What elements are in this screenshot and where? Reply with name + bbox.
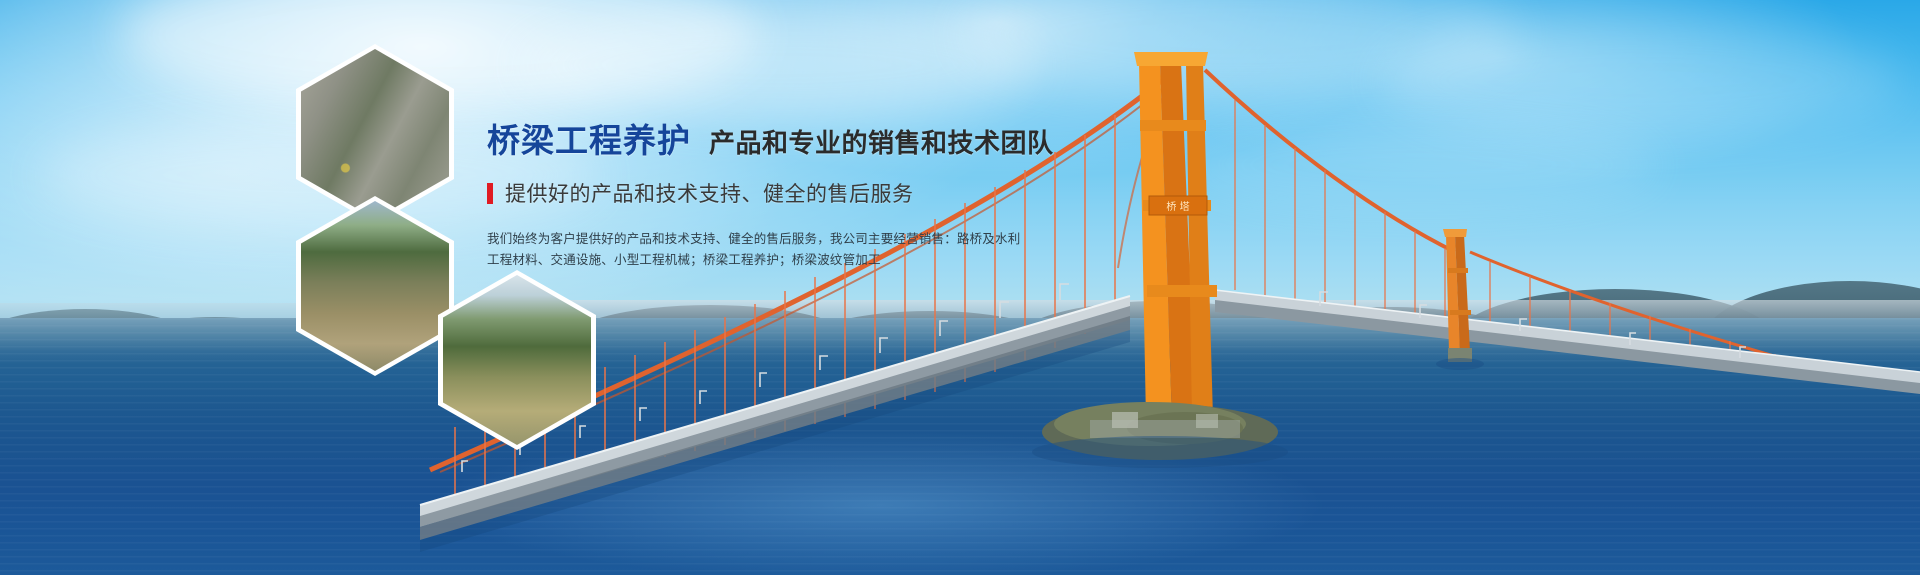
- cloud-wisp: [1180, 120, 1660, 210]
- cloud-wisp: [1380, 20, 1900, 140]
- cloud-wisp: [520, 10, 1040, 120]
- sea-horizon-shimmer: [0, 318, 1920, 364]
- body-copy: 我们始终为客户提供好的产品和技术支持、健全的售后服务，我公司主要经营销售：路桥及…: [487, 229, 847, 271]
- cloud-wisp: [960, 0, 1520, 100]
- subline: 提供好的产品和技术支持、健全的售后服务: [487, 178, 1047, 208]
- subline-text: 提供好的产品和技术支持、健全的售后服务: [505, 178, 914, 208]
- banner-copy: 桥梁工程养护 产品和专业的销售和技术团队 提供好的产品和技术支持、健全的售后服务…: [487, 124, 1047, 271]
- body-copy-line: 我们始终为客户提供好的产品和技术支持、健全的售后服务，我公司主要经营销售：路桥及…: [487, 229, 847, 250]
- hero-banner: 桥 塔: [0, 0, 1920, 575]
- accent-bar: [487, 183, 493, 204]
- sea-light-reflection: [430, 430, 1330, 575]
- headline-sub-text: 产品和专业的销售和技术团队: [709, 130, 1054, 156]
- headline: 桥梁工程养护 产品和专业的销售和技术团队: [487, 124, 1047, 157]
- headline-main-text: 桥梁工程养护: [487, 124, 691, 157]
- body-copy-line: 工程材料、交通设施、小型工程机械；桥梁工程养护；桥梁波纹管加工: [487, 250, 847, 271]
